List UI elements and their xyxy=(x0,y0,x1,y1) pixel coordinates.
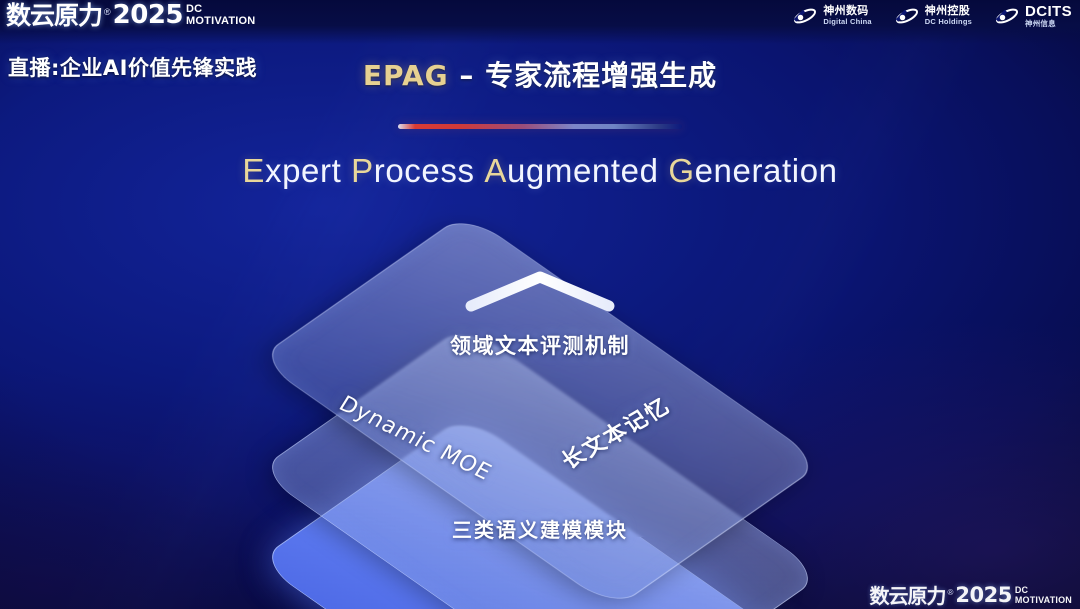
footer-logo-chinese: 数云原力 xyxy=(869,586,945,606)
footer-logo-motivation: MOTIVATION xyxy=(1015,596,1072,605)
partner-logo-text: DCITS 神州信息 xyxy=(1025,4,1072,28)
brand-logo-registered: ® xyxy=(104,8,111,17)
partner-logo-digital-china: 神州数码 Digital China xyxy=(792,5,871,27)
layered-architecture-diagram: 领域文本评测机制 Dynamic MOE 长文本记忆 三类语义建模模块 xyxy=(263,218,817,578)
partner-logo-text: 神州控股 DC Holdings xyxy=(925,6,972,25)
brand-logo-dc: DC xyxy=(186,4,255,15)
swirl-icon xyxy=(792,5,818,27)
partner-name-cn: DCITS xyxy=(1025,4,1072,20)
diagram-label-bottom: 三类语义建模模块 xyxy=(263,514,817,543)
page-title-separator: – xyxy=(449,59,486,92)
subtitle-space xyxy=(475,152,485,189)
subtitle-initial: G xyxy=(668,152,694,189)
footer-logo-year: 2025 xyxy=(955,585,1011,606)
footer-logo-dc-motivation: DC MOTIVATION xyxy=(1015,586,1072,606)
subtitle-space xyxy=(341,152,351,189)
page-title-acronym: EPAG xyxy=(363,59,449,92)
brand-logo-dc-motivation: DC MOTIVATION xyxy=(186,4,255,28)
page-title: EPAG – 专家流程增强生成 xyxy=(0,54,1080,94)
subtitle-word: rocess xyxy=(374,152,475,189)
partner-name-cn: 神州数码 xyxy=(823,6,871,18)
partner-name-en: 神州信息 xyxy=(1025,20,1072,28)
footer-logo-dc: DC xyxy=(1015,586,1072,595)
swirl-icon xyxy=(994,5,1020,27)
partner-logo-text: 神州数码 Digital China xyxy=(823,6,871,25)
brand-logo-motivation: MOTIVATION xyxy=(186,16,255,27)
footer-watermark-logo: 数云原力 ® 2025 DC MOTIVATION xyxy=(869,585,1072,606)
subtitle-initial: E xyxy=(242,152,265,189)
subtitle-space xyxy=(659,152,669,189)
page-title-chinese: 专家流程增强生成 xyxy=(485,59,717,92)
subtitle-initial: P xyxy=(351,152,374,189)
brand-logo: 数云原力 ® 2025 DC MOTIVATION xyxy=(6,2,255,28)
subtitle-word: ugmented xyxy=(507,152,659,189)
partner-name-en: DC Holdings xyxy=(925,18,972,26)
swirl-icon xyxy=(894,5,920,27)
chevron-up-icon xyxy=(463,268,617,314)
footer-logo-registered: ® xyxy=(947,589,953,597)
partner-name-en: Digital China xyxy=(823,18,871,26)
slide-canvas: 数云原力 ® 2025 DC MOTIVATION 直播:企业AI价值先锋实践 … xyxy=(0,0,1080,609)
subtitle-word: xpert xyxy=(265,152,341,189)
diagram-label-top: 领域文本评测机制 xyxy=(263,330,817,360)
subtitle-word: eneration xyxy=(695,152,838,189)
subtitle-initial: A xyxy=(484,152,507,189)
brand-logo-chinese: 数云原力 xyxy=(6,3,102,28)
title-divider xyxy=(398,124,682,129)
partner-logo-dc-holdings: 神州控股 DC Holdings xyxy=(894,5,972,27)
page-subtitle: Expert Process Augmented Generation xyxy=(0,152,1080,190)
brand-logo-year: 2025 xyxy=(113,2,183,28)
partner-logo-dcits: DCITS 神州信息 xyxy=(994,4,1072,28)
partner-logo-group: 神州数码 Digital China 神州控股 DC Holdings xyxy=(792,4,1072,28)
partner-name-cn: 神州控股 xyxy=(925,6,972,18)
